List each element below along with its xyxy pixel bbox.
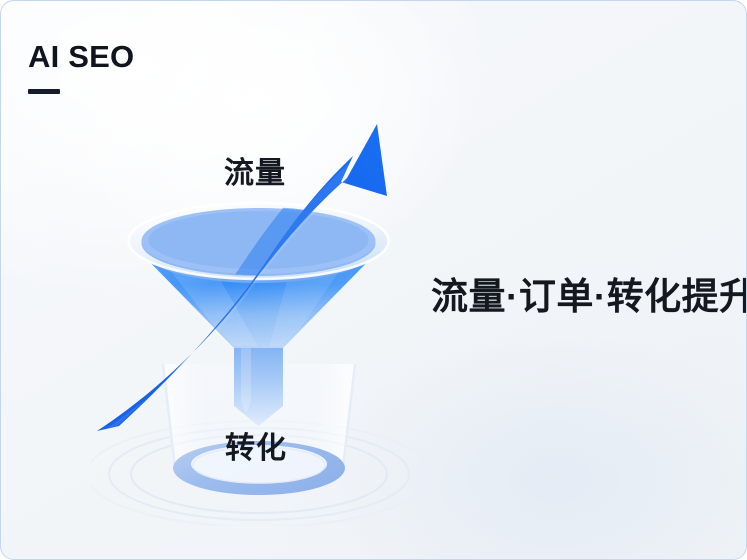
headline-text: 流量·订单·转化提升 xyxy=(431,274,747,320)
page-title: AI SEO xyxy=(28,39,134,75)
title-underline-rule xyxy=(28,89,60,94)
funnel-label-conversion: 转化 xyxy=(225,431,287,467)
brand-block: AI SEO xyxy=(28,39,134,94)
funnel-label-traffic: 流量 xyxy=(224,156,286,192)
seo-funnel-card: AI SEO 流量·订单·转化提升 xyxy=(0,0,747,560)
